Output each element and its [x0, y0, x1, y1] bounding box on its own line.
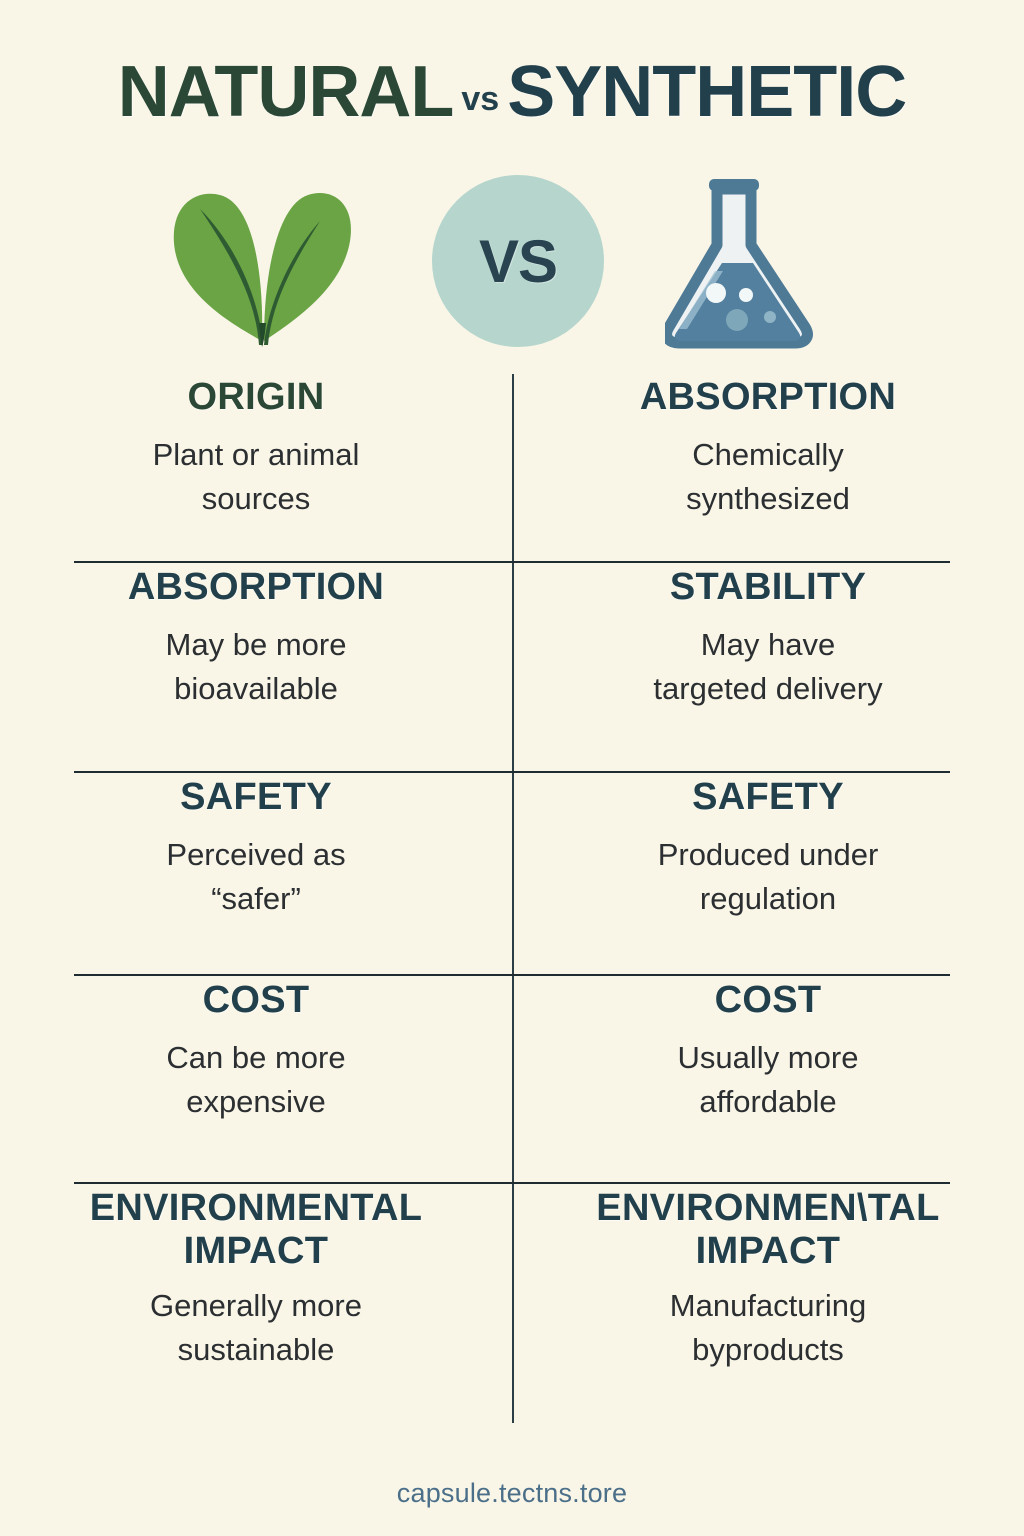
- cell-text: Can be more expensive: [46, 1036, 466, 1124]
- cell-label: ORIGIN: [46, 376, 466, 419]
- comparison-row: ORIGIN Plant or animal sources ABSORPTIO…: [0, 374, 1024, 562]
- footer: capsule.tectns.tore: [0, 1478, 1024, 1509]
- leaf-icon: [160, 173, 370, 348]
- poster-title: NATURALvsSYNTHETIC: [0, 56, 1024, 128]
- cell-synthetic-environmental-impact: ENVIRONMEN\TAL IMPACT Manufacturing bypr…: [512, 1183, 1024, 1423]
- cell-label: SAFETY: [558, 776, 978, 819]
- cell-natural-safety: SAFETY Perceived as “safer”: [0, 772, 512, 975]
- cell-text: May have targeted delivery: [558, 623, 978, 711]
- cell-text: Perceived as “safer”: [46, 833, 466, 921]
- cell-natural-cost: COST Can be more expensive: [0, 975, 512, 1183]
- vs-badge-label: VS: [479, 227, 557, 296]
- cell-label: SAFETY: [46, 776, 466, 819]
- title-vs-word: vs: [453, 80, 507, 118]
- cell-synthetic-cost: COST Usually more affordable: [512, 975, 1024, 1183]
- comparison-grid: ORIGIN Plant or animal sources ABSORPTIO…: [0, 374, 1024, 1423]
- cell-text: May be more bioavailable: [46, 623, 466, 711]
- comparison-row: ABSORPTION May be more bioavailable STAB…: [0, 562, 1024, 772]
- comparison-row: ENVIRONMENTAL IMPACT Generally more sust…: [0, 1183, 1024, 1423]
- infographic-poster: NATURALvsSYNTHETIC VS: [0, 0, 1024, 1536]
- cell-natural-absorption: ABSORPTION May be more bioavailable: [0, 562, 512, 772]
- cell-label: ENVIRONMEN\TAL IMPACT: [558, 1187, 978, 1272]
- title-natural: NATURAL: [118, 52, 454, 132]
- title-synthetic: SYNTHETIC: [507, 52, 906, 132]
- cell-synthetic-absorption: ABSORPTION Chemically synthesized: [512, 374, 1024, 562]
- cell-text: Produced under regulation: [558, 833, 978, 921]
- footer-site-label: capsule.tectns.tore: [397, 1478, 627, 1508]
- vs-badge: VS: [432, 175, 604, 347]
- icon-band: VS: [0, 165, 1024, 360]
- cell-text: Plant or animal sources: [46, 433, 466, 521]
- cell-text: Generally more sustainable: [46, 1284, 466, 1372]
- cell-natural-origin: ORIGIN Plant or animal sources: [0, 374, 512, 562]
- cell-label: ABSORPTION: [46, 566, 466, 609]
- cell-synthetic-safety: SAFETY Produced under regulation: [512, 772, 1024, 975]
- cell-label: ABSORPTION: [558, 376, 978, 419]
- cell-text: Chemically synthesized: [558, 433, 978, 521]
- cell-label: COST: [46, 979, 466, 1022]
- flask-icon: [665, 171, 830, 351]
- cell-label: COST: [558, 979, 978, 1022]
- cell-natural-environmental-impact: ENVIRONMENTAL IMPACT Generally more sust…: [0, 1183, 512, 1423]
- cell-synthetic-stability: STABILITY May have targeted delivery: [512, 562, 1024, 772]
- cell-text: Manufacturing byproducts: [558, 1284, 978, 1372]
- cell-label: STABILITY: [558, 566, 978, 609]
- comparison-row: SAFETY Perceived as “safer” SAFETY Produ…: [0, 772, 1024, 975]
- cell-text: Usually more affordable: [558, 1036, 978, 1124]
- cell-label: ENVIRONMENTAL IMPACT: [46, 1187, 466, 1272]
- comparison-row: COST Can be more expensive COST Usually …: [0, 975, 1024, 1183]
